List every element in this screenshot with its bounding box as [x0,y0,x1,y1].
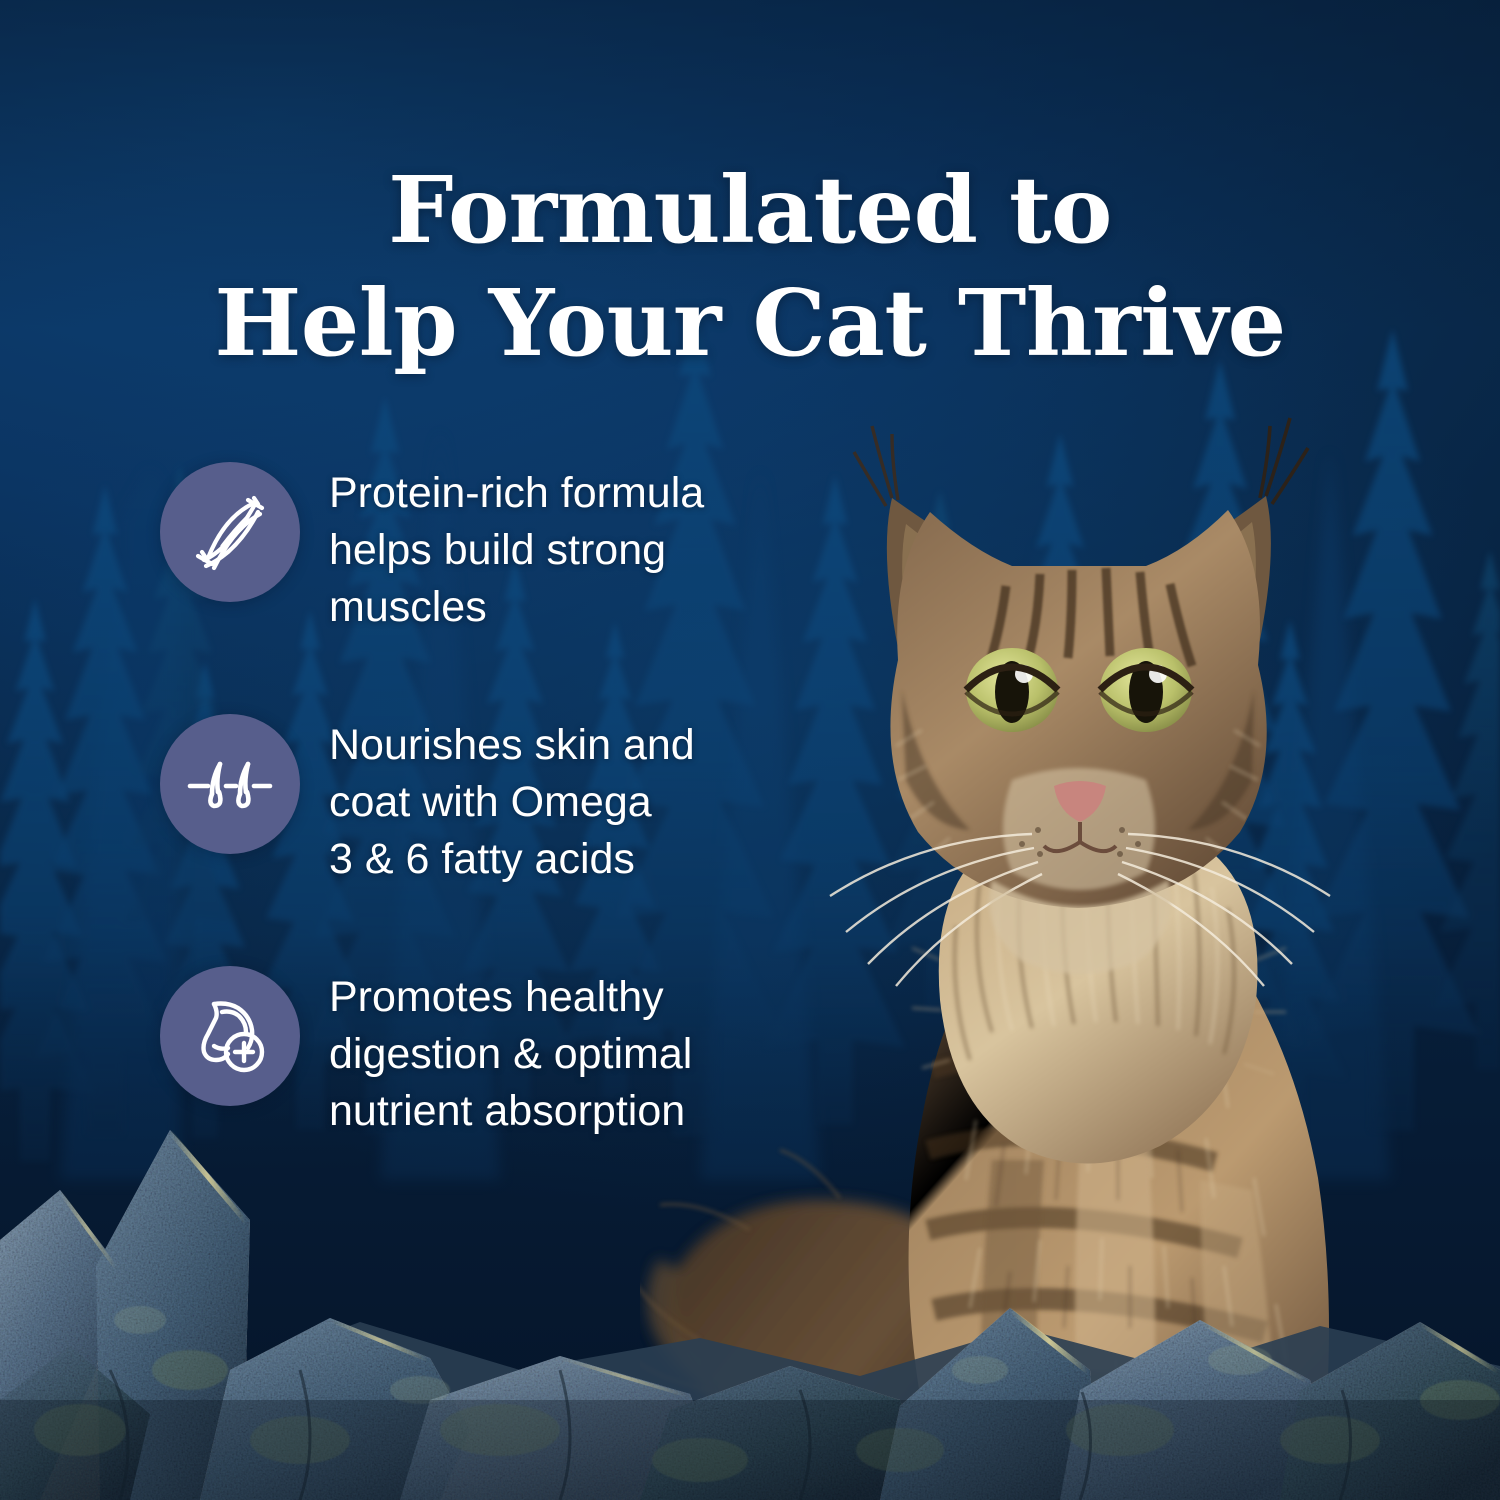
feature-text-line-2: coat with Omega [329,774,695,831]
headline-line-2: Help Your Cat Thrive [0,267,1500,380]
feature-text: Promotes healthy digestion & optimal nut… [329,966,692,1140]
feature-text-line-2: helps build strong [329,522,704,579]
feature-text-line-1: Promotes healthy [329,969,692,1026]
feature-text: Nourishes skin and coat with Omega 3 & 6… [329,714,695,888]
feature-item-digestion: Promotes healthy digestion & optimal nut… [160,966,780,1140]
headline-line-1: Formulated to [0,154,1500,267]
feature-icon-badge [160,462,300,602]
feature-list: Protein-rich formula helps build strong … [160,462,780,1140]
feature-text-line-2: digestion & optimal [329,1026,692,1083]
muscle-fiber-icon [184,486,276,578]
stomach-plus-icon [184,990,276,1082]
feature-text-line-3: nutrient absorption [329,1083,692,1140]
feature-text-line-1: Nourishes skin and [329,717,695,774]
hair-follicle-icon [184,738,276,830]
feature-item-protein: Protein-rich formula helps build strong … [160,462,780,636]
feature-item-skin-coat: Nourishes skin and coat with Omega 3 & 6… [160,714,780,888]
feature-icon-badge [160,714,300,854]
feature-text-line-3: muscles [329,579,704,636]
feature-text: Protein-rich formula helps build strong … [329,462,704,636]
page-title: Formulated to Help Your Cat Thrive [0,154,1500,380]
feature-icon-badge [160,966,300,1106]
feature-text-line-1: Protein-rich formula [329,465,704,522]
promo-banner: Formulated to Help Your Cat Thrive [0,0,1500,1500]
feature-text-line-3: 3 & 6 fatty acids [329,831,695,888]
